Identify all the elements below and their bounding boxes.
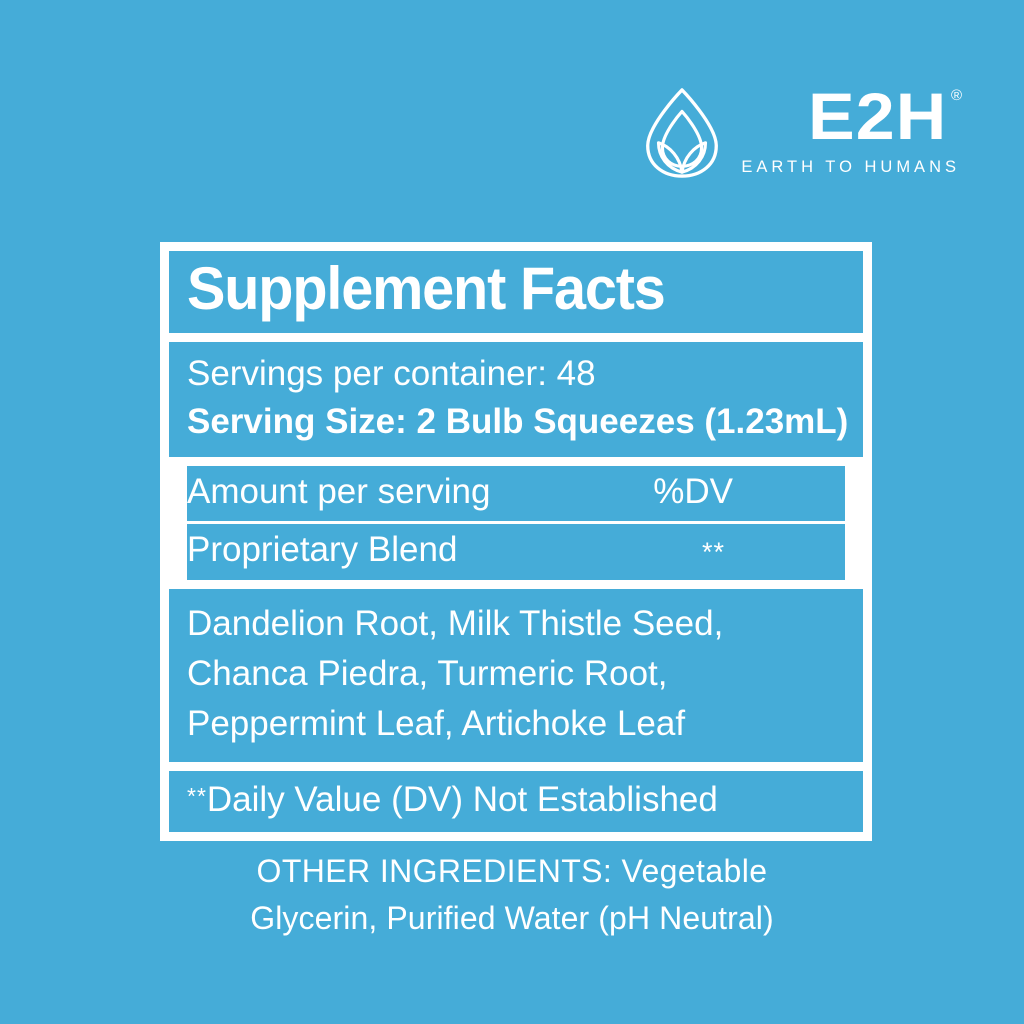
other-ingredients-block: OTHER INGREDIENTS: Vegetable Glycerin, P… xyxy=(0,848,1024,943)
brand-wordmark: E2H xyxy=(808,84,947,149)
page-title: Supplement Facts xyxy=(187,258,819,320)
daily-value-footnote: **Daily Value (DV) Not Established xyxy=(187,777,845,823)
dv-column-header: %DV xyxy=(653,470,733,515)
brand-logo: E2H ® EARTH TO HUMANS xyxy=(639,84,962,180)
list-item: Dandelion Root, Milk Thistle Seed, xyxy=(187,599,845,649)
servings-section: Servings per container: 48 Serving Size:… xyxy=(169,342,863,456)
supplement-facts-panel: Supplement Facts Servings per container:… xyxy=(160,242,872,841)
table-row-proprietary-blend: Proprietary Blend ** xyxy=(187,524,845,580)
ingredients-list: Dandelion Root, Milk Thistle Seed, Chanc… xyxy=(187,599,845,748)
brand-text-block: E2H ® EARTH TO HUMANS xyxy=(741,84,962,177)
brand-tagline: EARTH TO HUMANS xyxy=(741,158,960,177)
list-item: Peppermint Leaf, Artichoke Leaf xyxy=(187,699,845,749)
table-row-amount-header: Amount per serving %DV xyxy=(187,466,845,522)
footnote-label: Daily Value (DV) Not Established xyxy=(207,780,718,819)
ingredients-section: Dandelion Root, Milk Thistle Seed, Chanc… xyxy=(169,589,863,762)
proprietary-blend-dv-value: ** xyxy=(702,535,725,570)
serving-size: Serving Size: 2 Bulb Squeezes (1.23mL) xyxy=(187,398,845,446)
other-ingredients-line-1: OTHER INGREDIENTS: Vegetable xyxy=(0,848,1024,895)
servings-per-container: Servings per container: 48 xyxy=(187,350,845,398)
amount-per-serving-label: Amount per serving xyxy=(187,470,490,515)
list-item: Chanca Piedra, Turmeric Root, xyxy=(187,649,845,699)
other-ingredients-line-2: Glycerin, Purified Water (pH Neutral) xyxy=(0,895,1024,942)
amount-section: Amount per serving %DV Proprietary Blend… xyxy=(169,466,863,581)
water-droplet-leaf-icon xyxy=(639,86,725,180)
facts-title-section: Supplement Facts xyxy=(169,251,863,333)
proprietary-blend-label: Proprietary Blend xyxy=(187,528,457,573)
footnote-section: **Daily Value (DV) Not Established xyxy=(169,771,863,832)
footnote-marker: ** xyxy=(187,783,207,809)
registered-trademark-icon: ® xyxy=(951,88,962,103)
